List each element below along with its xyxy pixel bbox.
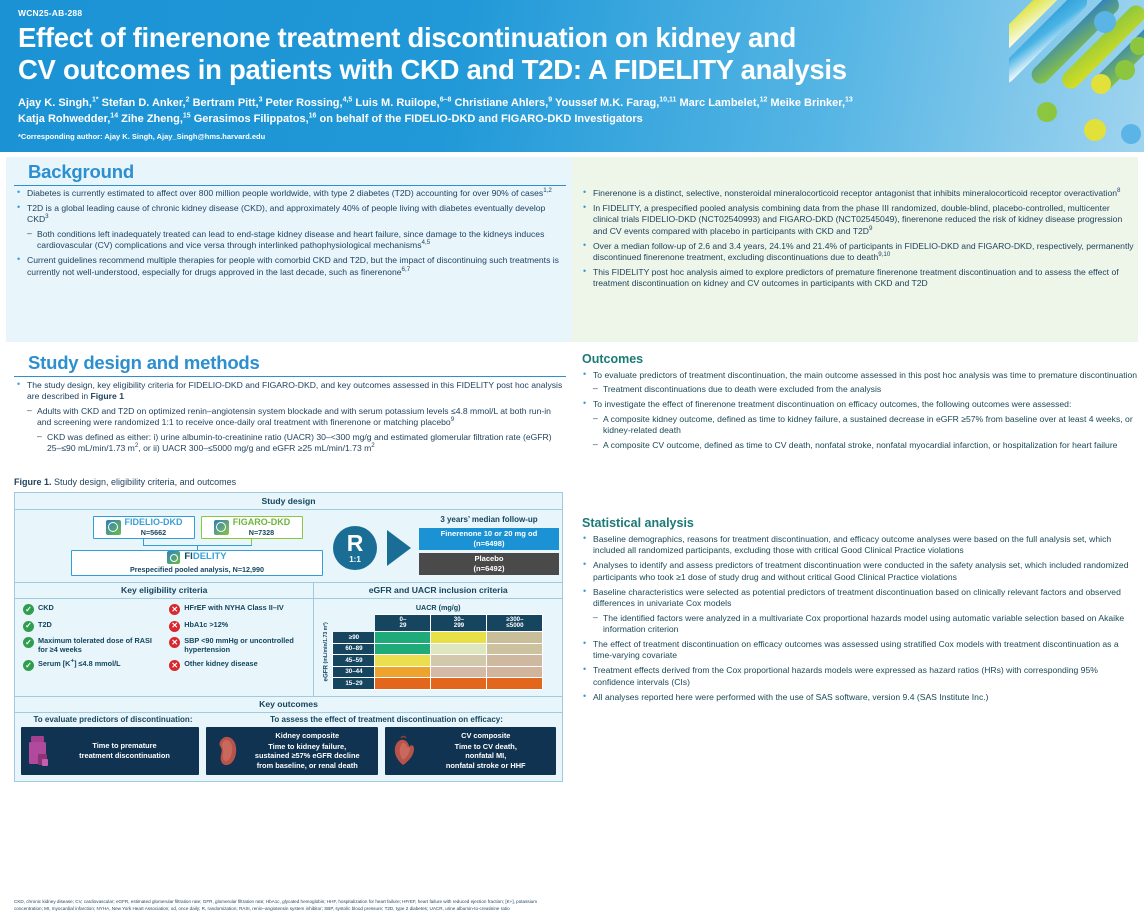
outcome-card-cv: CV compositeTime to CV death,nonfatal MI… — [385, 727, 557, 775]
inclusion-criterion-label-0: CKD — [38, 604, 54, 613]
list-item: Finerenone is a distinct, selective, non… — [582, 188, 1134, 199]
heart-icon — [391, 734, 417, 768]
sub-list: The identified factors were analyzed in … — [593, 613, 1138, 636]
sub-list: Both conditions left inadequately treate… — [27, 229, 564, 252]
heatmap-row: 45–59 — [333, 655, 543, 667]
eligibility-section: Key eligibility criteria ✓CKD✓T2D✓Maximu… — [15, 582, 562, 696]
author-line-1: Ajay K. Singh,1* Stefan D. Anker,2 Bertr… — [18, 96, 1118, 112]
check-circle-icon: ✓ — [23, 604, 34, 615]
check-circle-icon: ✓ — [23, 621, 34, 632]
list-item: This FIDELITY post hoc analysis aimed to… — [582, 267, 1134, 290]
heatmap-row: 30–44 — [333, 666, 543, 678]
background-bullets-left: Diabetes is currently estimated to affec… — [16, 188, 564, 278]
heatmap-cell-4-2 — [487, 678, 543, 690]
outcome-line-3: nonfatal stroke or HHF — [422, 761, 551, 771]
outcome-line-0: Time to premature — [56, 741, 193, 751]
heatmap-row: 60–89 — [333, 643, 543, 655]
exclusion-criterion-label-1: HbA1c >12% — [184, 621, 228, 630]
list-item: Baseline characteristics were selected a… — [582, 587, 1138, 636]
outcomes-subtitle-left: To evaluate predictors of discontinuatio… — [15, 715, 211, 724]
sub-sub-list: CKD was defined as either: i) urine albu… — [37, 432, 564, 455]
poster-title-line-2: CV outcomes in patients with CKD and T2D… — [18, 54, 1018, 86]
exclusion-criterion-0: ✕HFrEF with NYHA Class II–IV — [169, 604, 307, 615]
figaro-n: N=7328 — [233, 528, 291, 537]
author-list: Ajay K. Singh,1* Stefan D. Anker,2 Bertr… — [18, 96, 1118, 127]
key-outcomes-section: Key outcomes To evaluate predictors of d… — [15, 696, 562, 781]
inclusion-criterion-label-3: Serum [K+] ≤4.8 mmol/L — [38, 660, 121, 669]
flow-arrow-icon — [387, 530, 411, 566]
figure-caption: Figure 1. Study design, eligibility crit… — [14, 477, 566, 487]
list-item: T2D is a global leading cause of chronic… — [16, 203, 564, 252]
randomization-letter: R — [347, 532, 364, 555]
outcome-card-discontinuation: Time to prematuretreatment discontinuati… — [21, 727, 199, 775]
kidney-icon — [212, 734, 238, 768]
exclusion-criterion-label-3: Other kidney disease — [184, 660, 257, 669]
outcome-card-discontinuation-text: Time to prematuretreatment discontinuati… — [56, 741, 193, 760]
exclusion-criterion-label-2: SBP <90 mmHg or uncontrolled hypertensio… — [184, 637, 307, 655]
sub-list-item: Adults with CKD and T2D on optimized ren… — [27, 406, 564, 455]
inclusion-criterion-2: ✓Maximum tolerated dose of RASI for ≥4 w… — [23, 637, 161, 655]
cross-circle-icon: ✕ — [169, 604, 180, 615]
figure-footnote: CKD, chronic kidney disease; CV, cardiov… — [14, 899, 563, 912]
outcome-line-1: Time to kidney failure, — [243, 742, 372, 752]
heatmap-cell-3-1 — [431, 666, 487, 678]
heatmap-panel: eGFR and UACR inclusion criteria UACR (m… — [314, 583, 562, 696]
fidelio-labels: FIDELIO-DKD N=5662 — [125, 517, 183, 536]
outcome-card-kidney-text: Kidney compositeTime to kidney failure,s… — [243, 731, 372, 771]
cross-circle-icon: ✕ — [169, 621, 180, 632]
heatmap-cell-2-0 — [375, 655, 431, 667]
heatmap-row: 15–29 — [333, 678, 543, 690]
sub-list-item: A composite CV outcome, defined as time … — [593, 440, 1138, 451]
heatmap-row-label-0: ≥90 — [333, 632, 375, 644]
list-item: To evaluate predictors of treatment disc… — [582, 370, 1138, 396]
outcomes-heading: Outcomes — [582, 352, 1138, 366]
sub-list: Treatment discontinuations due to death … — [593, 384, 1138, 395]
fidelio-logo-icon — [106, 520, 121, 535]
figaro-labels: FIGARO-DKD N=7328 — [233, 517, 291, 536]
fidelity-sub: Prespecified pooled analysis, N=12,990 — [130, 565, 264, 574]
arm-finerenone: Finerenone 10 or 20 mg od (n=6498) — [419, 528, 559, 550]
heatmap-cell-0-0 — [375, 632, 431, 644]
heatmap-col-label-0: 0–29 — [375, 615, 431, 632]
list-item: The study design, key eligibility criter… — [16, 380, 564, 455]
sub-list: A composite kidney outcome, defined as t… — [593, 414, 1138, 451]
inclusion-criteria-list: ✓CKD✓T2D✓Maximum tolerated dose of RASI … — [23, 604, 161, 671]
inclusion-criterion-3: ✓Serum [K+] ≤4.8 mmol/L — [23, 660, 161, 671]
heatmap-corner — [333, 615, 375, 632]
list-item: Diabetes is currently estimated to affec… — [16, 188, 564, 199]
author-line-2: Katja Rohwedder,14 Zihe Zheng,15 Gerasim… — [18, 112, 1118, 128]
study-design-diagram: FIDELIO-DKD N=5662 FIGARO-DKD N=7328 — [15, 510, 562, 582]
background-bullets-right: Finerenone is a distinct, selective, non… — [582, 188, 1134, 290]
heatmap-row-label-3: 30–44 — [333, 666, 375, 678]
sub-list-item: The identified factors were analyzed in … — [593, 613, 1138, 636]
heatmap-col-label-2: ≥300–≤5000 — [487, 615, 543, 632]
exclusion-criteria-list: ✕HFrEF with NYHA Class II–IV✕HbA1c >12%✕… — [169, 604, 307, 671]
list-item: Treatment effects derived from the Cox p… — [582, 665, 1138, 688]
check-circle-icon: ✓ — [23, 660, 34, 671]
heatmap-cell-1-1 — [431, 643, 487, 655]
arm-placebo-label: Placebo — [474, 554, 503, 563]
outcome-line-1: Time to CV death, — [422, 742, 551, 752]
randomization-circle: R 1:1 — [333, 526, 377, 570]
list-item: Over a median follow-up of 2.6 and 3.4 y… — [582, 241, 1134, 264]
heatmap-band-title: eGFR and UACR inclusion criteria — [314, 583, 562, 600]
inclusion-criterion-0: ✓CKD — [23, 604, 161, 615]
heatmap-cell-1-0 — [375, 643, 431, 655]
arm-finerenone-label: Finerenone 10 or 20 mg od — [441, 529, 538, 538]
study-design-figure: Study design FIDELIO-DKD N=5662 FIGARO-D… — [14, 492, 563, 782]
sub-list: Adults with CKD and T2D on optimized ren… — [27, 406, 564, 455]
heatmap-cell-2-2 — [487, 655, 543, 667]
figure-caption-text: Study design, eligibility criteria, and … — [52, 477, 237, 487]
heatmap-col-label-1: 30–299 — [431, 615, 487, 632]
list-item: In FIDELITY, a prespecified pooled analy… — [582, 203, 1134, 237]
heatmap-row-label-4: 15–29 — [333, 678, 375, 690]
exclusion-criterion-3: ✕Other kidney disease — [169, 660, 307, 671]
outcome-card-cv-text: CV compositeTime to CV death,nonfatal MI… — [422, 731, 551, 771]
poster-body: Background Diabetes is currently estimat… — [0, 152, 1144, 781]
fidelity-name: FIDELITY — [184, 552, 226, 563]
connector-down — [197, 545, 198, 550]
trial-box-fidelio: FIDELIO-DKD N=5662 — [93, 516, 195, 539]
inclusion-criterion-1: ✓T2D — [23, 621, 161, 632]
background-heading: Background — [14, 161, 566, 186]
arm-finerenone-n: (n=6498) — [473, 539, 504, 548]
heatmap-cell-3-2 — [487, 666, 543, 678]
poster-header: WCN25-AB-288 Effect of finerenone treatm… — [0, 0, 1144, 152]
fidelio-n: N=5662 — [125, 528, 183, 537]
exclusion-criterion-label-0: HFrEF with NYHA Class II–IV — [184, 604, 283, 613]
outcomes-subtitle-right: To assess the effect of treatment discon… — [211, 715, 562, 724]
methods-heading: Study design and methods — [14, 352, 566, 377]
study-design-band-title: Study design — [15, 493, 562, 510]
outcome-line-2: nonfatal MI, — [422, 751, 551, 761]
abstract-id: WCN25-AB-288 — [18, 8, 82, 18]
sub-list-item: A composite kidney outcome, defined as t… — [593, 414, 1138, 437]
figure-caption-label: Figure 1. — [14, 477, 52, 487]
sub-list-item: Both conditions left inadequately treate… — [27, 229, 564, 252]
fidelity-logo-icon — [167, 551, 180, 564]
heatmap-cell-4-1 — [431, 678, 487, 690]
pooled-analysis-box: FIDELITY Prespecified pooled analysis, N… — [71, 550, 323, 576]
list-item: The effect of treatment discontinuation … — [582, 639, 1138, 662]
followup-label: 3 years’ median follow-up — [419, 515, 559, 524]
randomization-ratio: 1:1 — [349, 556, 361, 564]
arm-placebo: Placebo (n=6492) — [419, 553, 559, 575]
trial-box-figaro: FIGARO-DKD N=7328 — [201, 516, 303, 539]
check-circle-icon: ✓ — [23, 637, 34, 648]
header-decoration-graphic — [1009, 0, 1144, 152]
outcome-line-3: from baseline, or renal death — [243, 761, 372, 771]
inclusion-criterion-label-2: Maximum tolerated dose of RASI for ≥4 we… — [38, 637, 161, 655]
statistical-analysis-heading: Statistical analysis — [582, 516, 1138, 530]
eligibility-criteria-panel: Key eligibility criteria ✓CKD✓T2D✓Maximu… — [15, 583, 314, 696]
heatmap-header-row: 0–2930–299≥300–≤5000 — [333, 615, 543, 632]
outcome-card-kidney: Kidney compositeTime to kidney failure,s… — [206, 727, 378, 775]
heatmap-cell-0-2 — [487, 632, 543, 644]
list-item: Baseline demographics, reasons for treat… — [582, 534, 1138, 557]
figaro-name: FIGARO-DKD — [233, 517, 291, 527]
list-item: To investigate the effect of finerenone … — [582, 399, 1138, 451]
heatmap-row-label-2: 45–59 — [333, 655, 375, 667]
pill-bottle-icon — [27, 734, 51, 768]
heatmap-table: 0–2930–299≥300–≤5000≥9060–8945–5930–4415… — [332, 614, 543, 690]
heatmap-row-label-1: 60–89 — [333, 643, 375, 655]
sub-sub-list-item: CKD was defined as either: i) urine albu… — [37, 432, 564, 455]
heatmap-cell-1-2 — [487, 643, 543, 655]
key-outcomes-band-title: Key outcomes — [15, 697, 562, 714]
exclusion-criterion-1: ✕HbA1c >12% — [169, 621, 307, 632]
outcome-line-0: CV composite — [422, 731, 551, 741]
outcomes-bullets: To evaluate predictors of treatment disc… — [582, 370, 1138, 451]
heatmap-row: ≥90 — [333, 632, 543, 644]
heatmap-x-title: UACR (mg/g) — [320, 603, 556, 612]
cross-circle-icon: ✕ — [169, 660, 180, 671]
outcome-line-0: Kidney composite — [243, 731, 372, 741]
arm-placebo-n: (n=6492) — [473, 564, 504, 573]
list-item: Current guidelines recommend multiple th… — [16, 255, 564, 278]
cross-circle-icon: ✕ — [169, 637, 180, 648]
corresponding-author: *Corresponding author: Ajay K. Singh, Aj… — [18, 132, 265, 141]
heatmap-cell-2-1 — [431, 655, 487, 667]
outcome-line-1: treatment discontinuation — [56, 751, 193, 761]
heatmap-cell-3-0 — [375, 666, 431, 678]
heatmap-y-title: eGFR (mL/min/1.73 m²) — [320, 614, 332, 690]
exclusion-criterion-2: ✕SBP <90 mmHg or uncontrolled hypertensi… — [169, 637, 307, 655]
statistical-analysis-bullets: Baseline demographics, reasons for treat… — [582, 534, 1138, 703]
inclusion-criterion-label-1: T2D — [38, 621, 52, 630]
sub-list-item: Treatment discontinuations due to death … — [593, 384, 1138, 395]
list-item: All analyses reported here were performe… — [582, 692, 1138, 703]
eligibility-band-title: Key eligibility criteria — [15, 583, 313, 600]
fidelio-name: FIDELIO-DKD — [125, 517, 183, 527]
figaro-logo-icon — [214, 520, 229, 535]
list-item: Analyses to identify and assess predicto… — [582, 560, 1138, 583]
methods-bullets: The study design, key eligibility criter… — [16, 380, 564, 455]
heatmap-cell-0-1 — [431, 632, 487, 644]
outcome-line-2: sustained ≥57% eGFR decline — [243, 751, 372, 761]
poster-title-line-1: Effect of finerenone treatment discontin… — [18, 22, 1018, 54]
heatmap-cell-4-0 — [375, 678, 431, 690]
page-title: Effect of finerenone treatment discontin… — [18, 22, 1018, 87]
fidelity-logo-row: FIDELITY — [167, 551, 226, 564]
